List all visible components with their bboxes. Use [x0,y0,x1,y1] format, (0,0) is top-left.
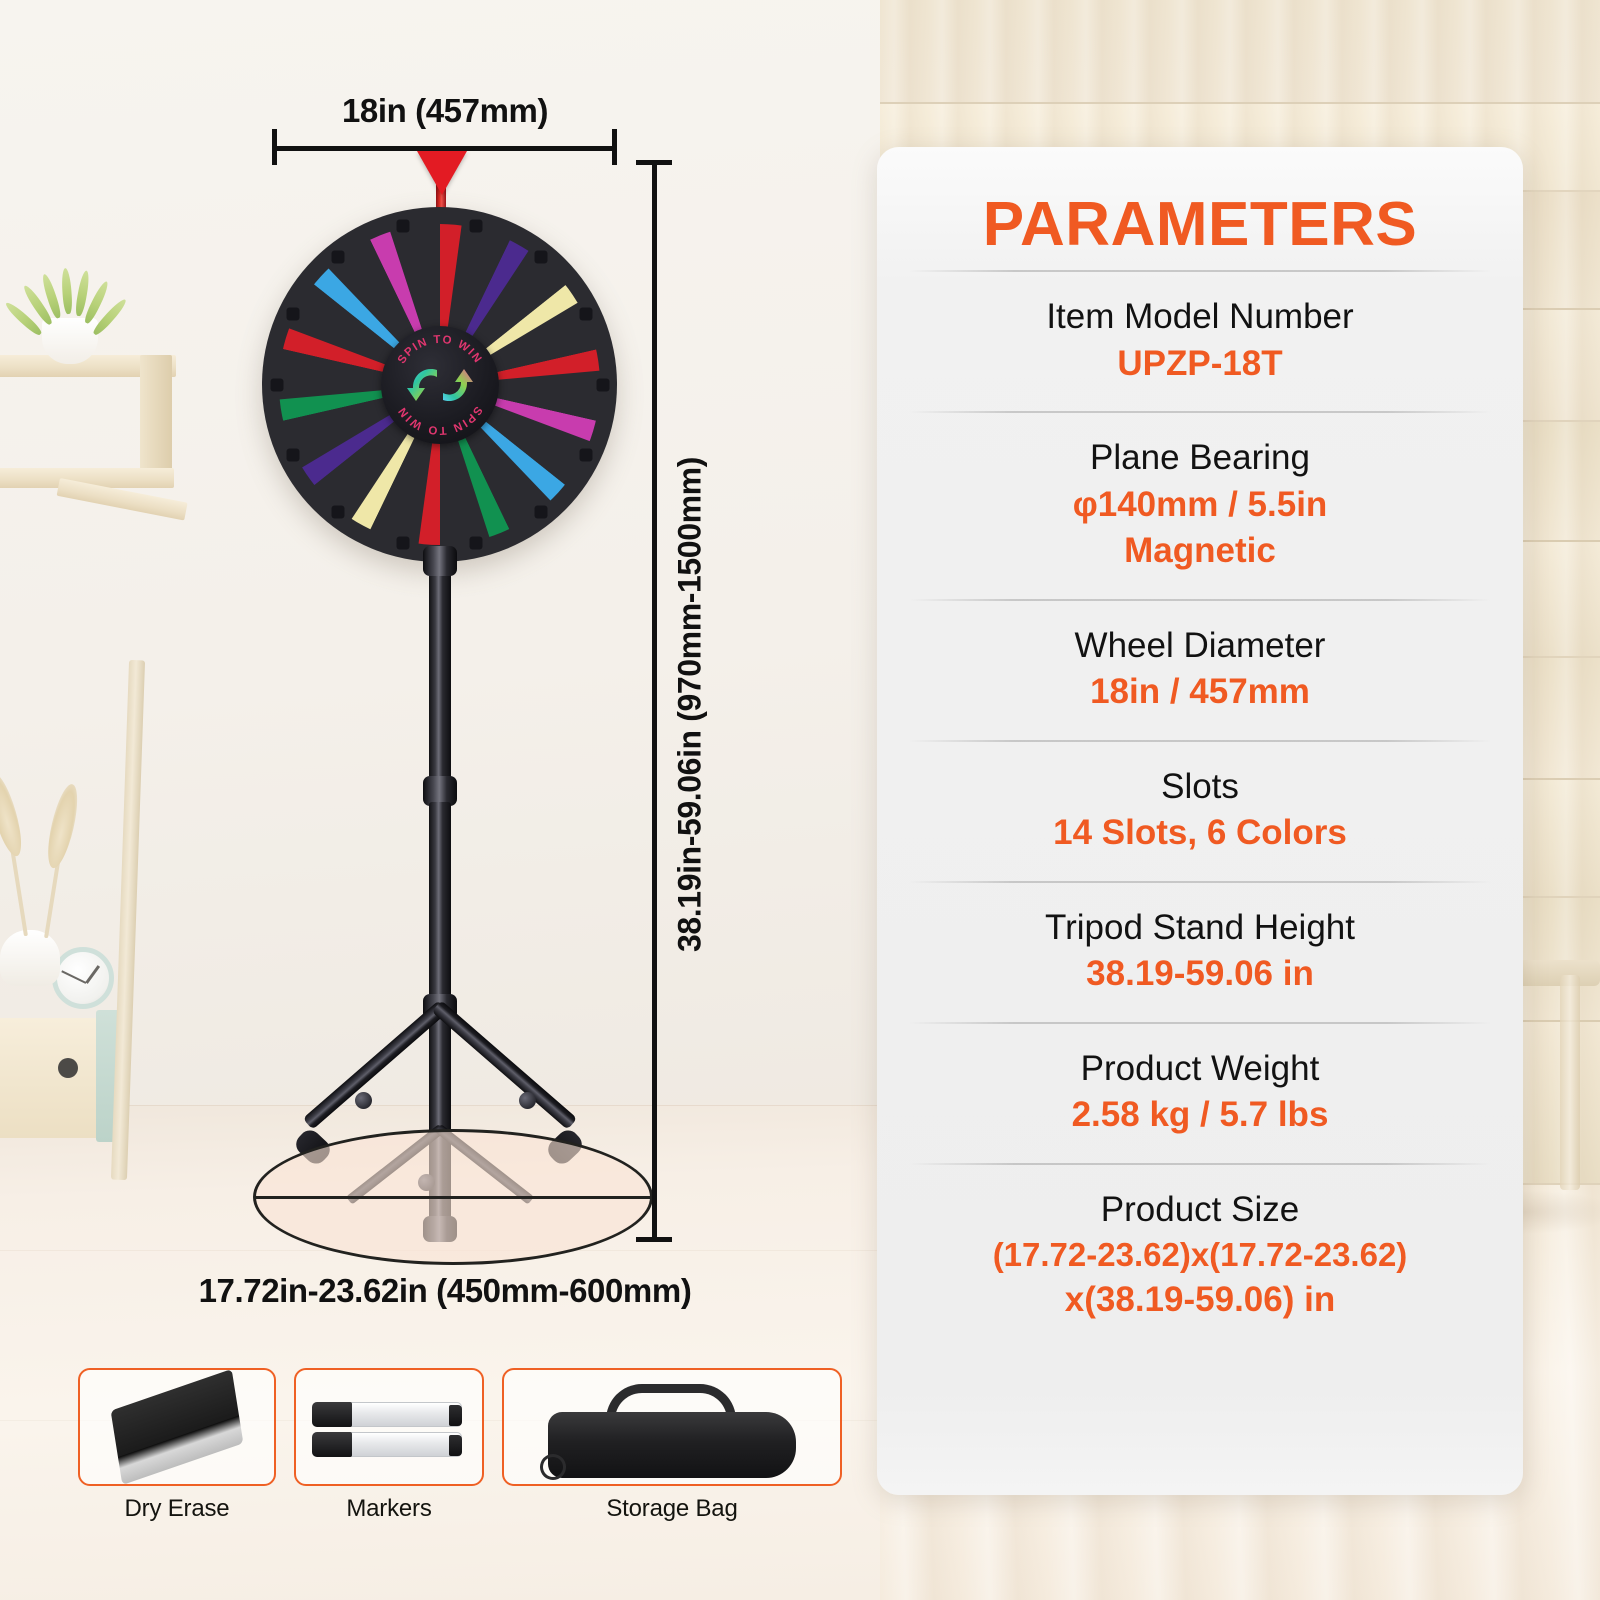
parameter-name: Item Model Number [899,296,1501,339]
parameter-name: Product Size [899,1189,1501,1232]
parameter-value-line2: Magnetic [899,529,1501,572]
dimension-label-base: 17.72in-23.62in (450mm-600mm) [130,1272,760,1310]
wheel-peg [270,378,283,391]
product-illustration: SPIN TO WIN SPIN TO WIN 18in (457mm) [0,0,880,1600]
accessory-image-box [502,1368,842,1486]
accessories-row: Dry Erase Markers Storage Bag [78,1368,842,1523]
parameter-value: 18in / 457mm [899,670,1501,713]
wheel-pointer-icon [417,151,467,195]
wheel-peg [596,378,609,391]
spin-arrows-icon [403,358,477,412]
wheel-peg [331,251,344,264]
wheel-peg [331,505,344,518]
dimension-cap-top [636,160,672,165]
prize-wheel[interactable]: SPIN TO WIN SPIN TO WIN [262,207,617,562]
parameter-name: Slots [899,766,1501,809]
wheel-peg [397,219,410,232]
parameter-row: Product Weight2.58 kg / 5.7 lbs [877,1022,1523,1163]
panel-title: PARAMETERS [877,147,1523,270]
lower-pole [429,802,451,1002]
base-footprint-chord [256,1196,650,1199]
wheel-mount-collar [423,546,457,576]
upper-pole [429,556,451,782]
parameter-row: Item Model NumberUPZP-18T [877,270,1523,411]
wheel-peg [469,537,482,550]
parameter-value: 14 Slots, 6 Colors [899,811,1501,854]
accessory-label: Storage Bag [606,1495,737,1523]
accessory-label: Markers [346,1495,431,1523]
accessory-image-box [78,1368,276,1486]
wheel-hub: SPIN TO WIN SPIN TO WIN [381,326,499,444]
wheel-peg [535,505,548,518]
parameter-row: Product Size(17.72-23.62)x(17.72-23.62)x… [877,1163,1523,1348]
eraser-icon [111,1369,244,1485]
parameter-row: Slots14 Slots, 6 Colors [877,740,1523,881]
parameter-row: Wheel Diameter18in / 457mm [877,599,1523,740]
dimension-line-height [652,160,657,1242]
brace-hinge-left [355,1092,372,1109]
wheel-peg [580,449,593,462]
wheel-peg [469,219,482,232]
marker-icon [312,1402,462,1427]
dimension-cap-right [612,129,617,165]
wheel-peg [397,537,410,550]
accessory-label: Dry Erase [125,1495,230,1523]
parameter-value-line2: x(38.19-59.06) in [899,1278,1501,1321]
dimension-line-width [272,146,617,151]
stool-leg [1560,975,1580,1190]
wheel-peg [535,251,548,264]
parameter-name: Plane Bearing [899,437,1501,480]
parameter-value: UPZP-18T [899,342,1501,385]
parameter-name: Wheel Diameter [899,625,1501,668]
parameter-name: Tripod Stand Height [899,907,1501,950]
parameter-row: Plane Bearingφ140mm / 5.5inMagnetic [877,411,1523,598]
wheel-peg [286,307,299,320]
marker-icon [312,1432,462,1457]
brace-hinge-right [519,1092,536,1109]
storage-bag-icon [548,1412,796,1478]
accessory-storage-bag[interactable]: Storage Bag [502,1368,842,1523]
wall-plank [880,0,1600,104]
dimension-cap-left [272,129,277,165]
dimension-label-height: 38.19in-59.06in (970mm-1500mm) [672,405,709,1005]
parameter-value: (17.72-23.62)x(17.72-23.62) [899,1235,1501,1276]
accessory-markers[interactable]: Markers [294,1368,484,1523]
accessory-dry-erase[interactable]: Dry Erase [78,1368,276,1523]
tripod-leg-right [303,1000,449,1129]
parameter-value: 38.19-59.06 in [899,952,1501,995]
dimension-label-width: 18in (457mm) [270,92,620,130]
parameter-row: Tripod Stand Height38.19-59.06 in [877,881,1523,1022]
parameter-name: Product Weight [899,1048,1501,1091]
tripod-leg-left [432,1000,578,1129]
parameters-list: Item Model NumberUPZP-18TPlane Bearingφ1… [877,270,1523,1348]
accessory-image-box [294,1368,484,1486]
parameter-value: 2.58 kg / 5.7 lbs [899,1093,1501,1136]
parameters-panel: PARAMETERS Item Model NumberUPZP-18TPlan… [877,147,1523,1495]
dimension-cap-bottom [636,1237,672,1242]
wheel-peg [286,449,299,462]
parameter-value: φ140mm / 5.5in [899,483,1501,526]
wheel-peg [580,307,593,320]
